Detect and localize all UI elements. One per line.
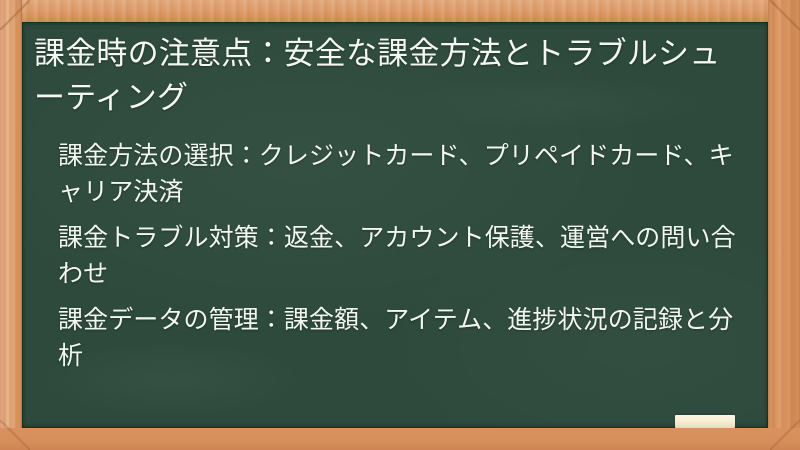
list-item: 課金トラブル対策：返金、アカウント保護、運営への問い合わせ <box>34 220 748 291</box>
frame-top-rail <box>0 0 800 22</box>
chalkboard-slide: 課金時の注意点：安全な課金方法とトラブルシューティング 課金方法の選択：クレジッ… <box>0 0 800 450</box>
list-item: 課金方法の選択：クレジットカード、プリペイドカード、キャリア決済 <box>34 138 748 209</box>
chalk-stick <box>675 415 735 428</box>
list-item: 課金データの管理：課金額、アイテム、進捗状況の記録と分析 <box>34 302 748 373</box>
slide-title: 課金時の注意点：安全な課金方法とトラブルシューティング <box>34 32 734 120</box>
frame-left-rail <box>0 0 22 450</box>
bullet-list: 課金方法の選択：クレジットカード、プリペイドカード、キャリア決済 課金トラブル対… <box>34 138 750 373</box>
chalkboard-surface: 課金時の注意点：安全な課金方法とトラブルシューティング 課金方法の選択：クレジッ… <box>22 22 768 428</box>
frame-bottom-rail <box>0 428 800 450</box>
chalkboard-content: 課金時の注意点：安全な課金方法とトラブルシューティング 課金方法の選択：クレジッ… <box>22 22 768 373</box>
frame-right-rail <box>768 0 800 450</box>
